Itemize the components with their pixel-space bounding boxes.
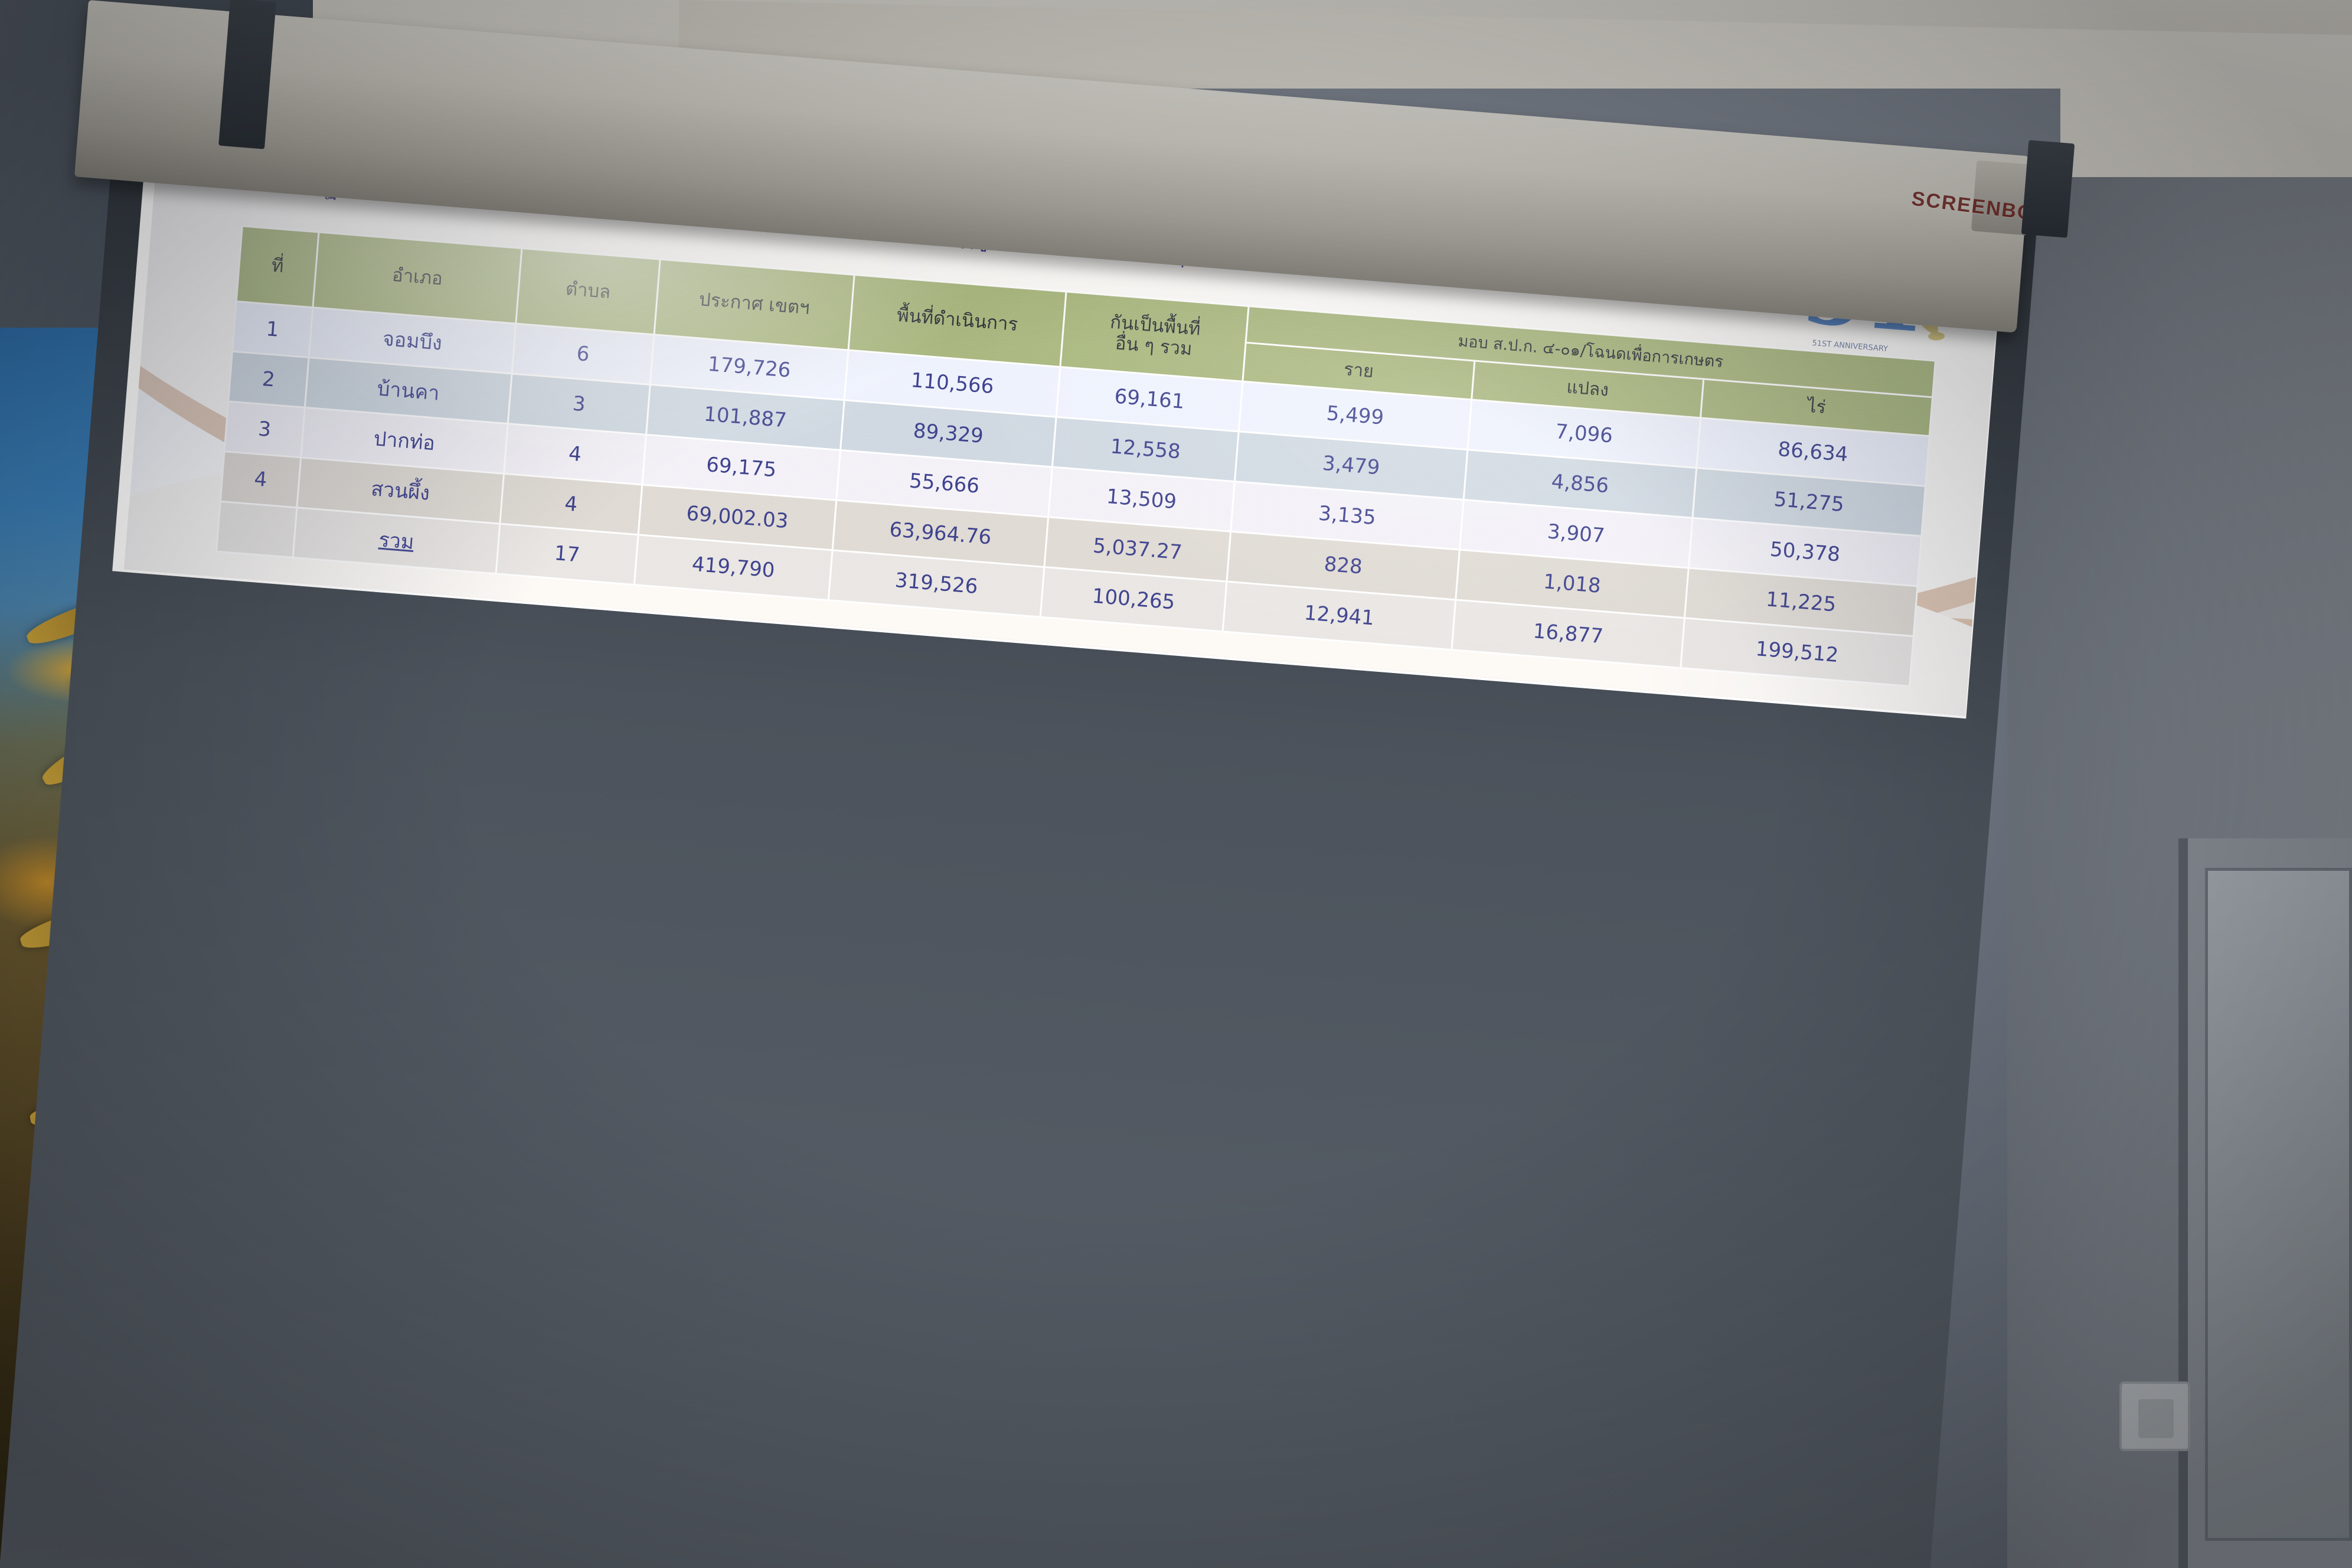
screen-mount-bracket-right	[2021, 140, 2075, 238]
cell-no: 4	[220, 451, 300, 507]
cell-total-tambon: 17	[496, 524, 638, 584]
th-reserved-other: กันเป็นพื้นที่ อื่น ๆ รวม	[1060, 292, 1249, 381]
room-photo-scene: ที่ดินรัฐ (เกษตรกรรม) พื้นที่ดำเนินการปฏ…	[0, 0, 2352, 1568]
cell-no: 3	[224, 401, 305, 457]
th-tambon: ตำบล	[516, 249, 660, 335]
window-glass	[2205, 868, 2352, 1541]
cell-no: 2	[228, 351, 309, 407]
cell-no: 1	[233, 301, 313, 357]
th-no: ที่	[236, 226, 319, 307]
wall-power-outlet[interactable]	[2119, 1381, 2190, 1451]
cell-total-no	[217, 501, 297, 557]
